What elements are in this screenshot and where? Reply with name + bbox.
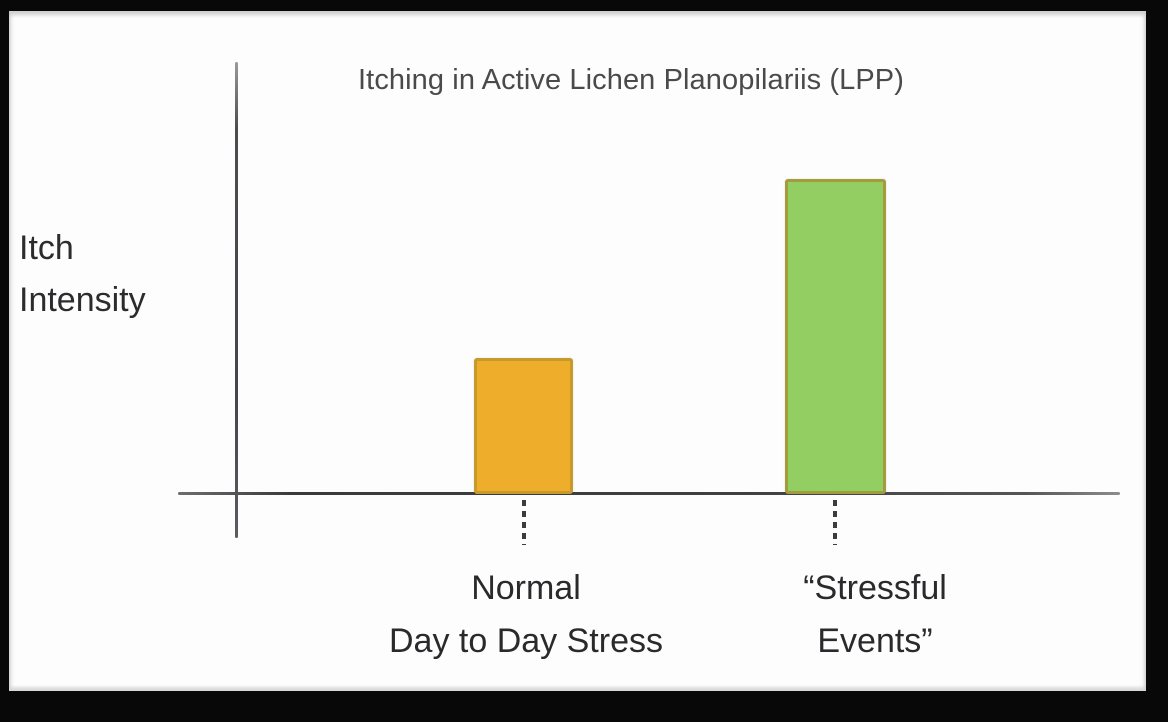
chart-title: Itching in Active Lichen Planopilariis (… [358,63,904,97]
y-axis-label: Itch Intensity [19,222,146,326]
y-axis-line [235,62,238,538]
bar-chart: Itching in Active Lichen Planopilariis (… [9,11,1146,691]
bar-normal-day-to-day-stress [474,358,573,494]
slide-canvas: Itching in Active Lichen Planopilariis (… [9,11,1146,691]
x-axis-label-normal-day-to-day-stress: Normal Day to Day Stress [331,562,721,668]
x-axis-line [178,492,1120,495]
x-tick-normal-day-to-day-stress [522,500,526,545]
slide-photo-frame: Itching in Active Lichen Planopilariis (… [0,0,1168,722]
x-tick-stressful-events [833,500,837,545]
bar-stressful-events [785,179,886,494]
x-axis-label-stressful-events: “Stressful Events” [750,562,1000,668]
